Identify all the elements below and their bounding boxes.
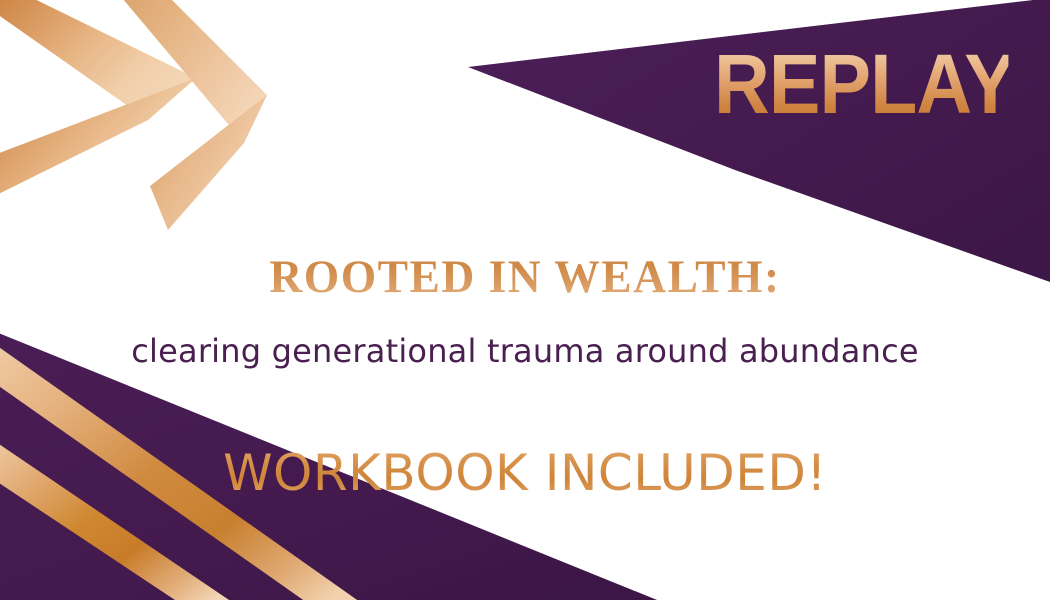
page-title: ROOTED IN WEALTH: bbox=[16, 249, 1035, 305]
promo-graphic-canvas: REPLAY ROOTED IN WEALTH: clearing genera… bbox=[0, 0, 1050, 600]
replay-badge-label: REPLAY bbox=[714, 38, 1008, 130]
workbook-callout: WORKBOOK INCLUDED! bbox=[0, 442, 1050, 504]
page-subtitle: clearing generational trauma around abun… bbox=[0, 330, 1050, 372]
